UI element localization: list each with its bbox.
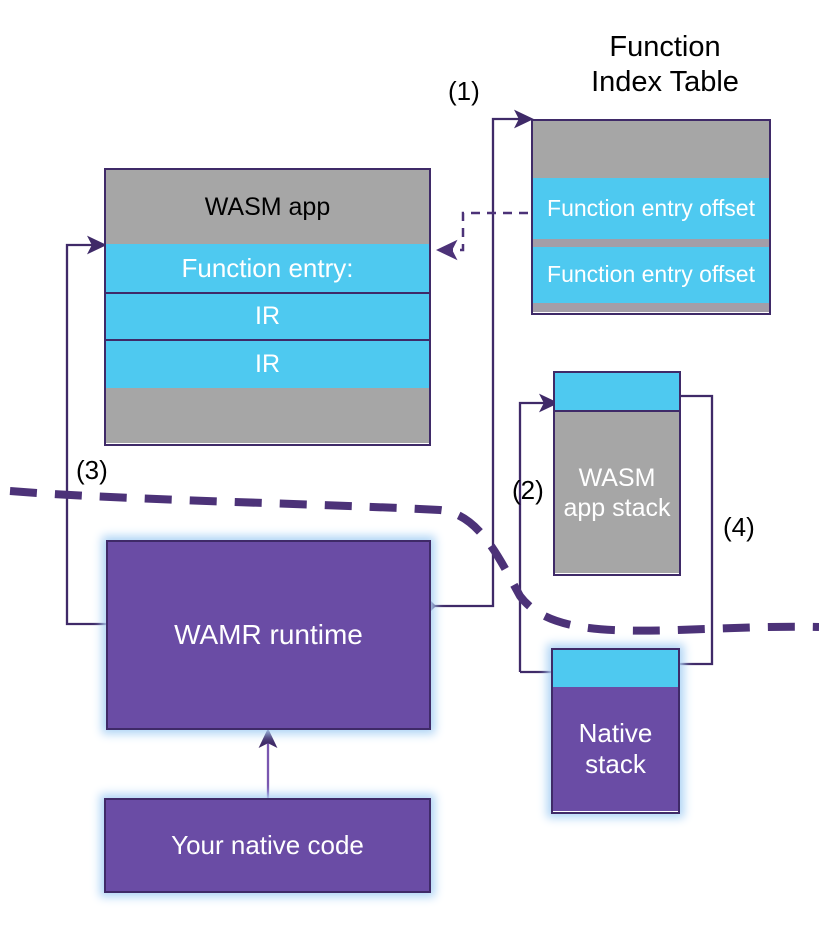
function-index-table-title: Function Index Table	[540, 30, 790, 101]
wasm-app-footer-region	[106, 388, 429, 443]
native-stack-body: Native stack	[553, 687, 678, 811]
step-label-2: (2)	[512, 475, 544, 506]
native-stack-box[interactable]: Native stack	[551, 648, 680, 814]
ir-label-2: IR	[255, 350, 280, 379]
wamr-runtime-label: WAMR runtime	[174, 619, 363, 651]
native-stack-label: Native stack	[553, 718, 678, 780]
function-entry-offset-label-1: Function entry offset	[547, 196, 755, 222]
wasm-app-stack-body: WASM app stack	[555, 412, 679, 573]
function-index-table-entry-1[interactable]: Function entry offset	[533, 178, 769, 239]
your-native-code-box[interactable]: Your native code	[104, 798, 431, 893]
function-entry-offset-label-2: Function entry offset	[547, 262, 755, 288]
function-index-table-entry-2[interactable]: Function entry offset	[533, 247, 769, 303]
wasm-app-header: WASM app	[106, 170, 429, 244]
connector-step-3	[67, 245, 108, 624]
ir-label-1: IR	[255, 302, 280, 331]
step-label-4: (4)	[723, 512, 755, 543]
wasm-app-header-label: WASM app	[205, 193, 331, 222]
wasm-app-function-entry-row[interactable]: Function entry:	[106, 244, 429, 294]
function-index-table-header-region	[533, 121, 769, 178]
wasm-app-stack-box[interactable]: WASM app stack	[553, 371, 681, 576]
function-index-table-divider-1	[533, 239, 769, 247]
diagram-canvas: Function Index Table WASM app Function e…	[0, 0, 819, 925]
native-stack-top-band[interactable]	[553, 650, 678, 687]
step-label-3: (3)	[76, 455, 108, 486]
function-index-table-box[interactable]: Function entry offset Function entry off…	[531, 119, 771, 315]
connector-step-1	[429, 119, 531, 606]
your-native-code-label: Your native code	[171, 830, 364, 861]
title-line-1: Function	[540, 30, 790, 65]
step-label-1: (1)	[448, 76, 480, 107]
function-index-table-divider-2	[533, 303, 769, 312]
wasm-app-ir-row-2[interactable]: IR	[106, 341, 429, 388]
title-line-2: Index Table	[540, 65, 790, 100]
wamr-runtime-box[interactable]: WAMR runtime	[106, 540, 431, 730]
wasm-app-stack-top-band[interactable]	[555, 373, 679, 412]
wasm-app-box[interactable]: WASM app Function entry: IR IR	[104, 168, 431, 446]
wasm-app-stack-label: WASM app stack	[555, 463, 679, 523]
wasm-app-ir-row-1[interactable]: IR	[106, 294, 429, 341]
function-entry-label: Function entry:	[182, 253, 354, 284]
